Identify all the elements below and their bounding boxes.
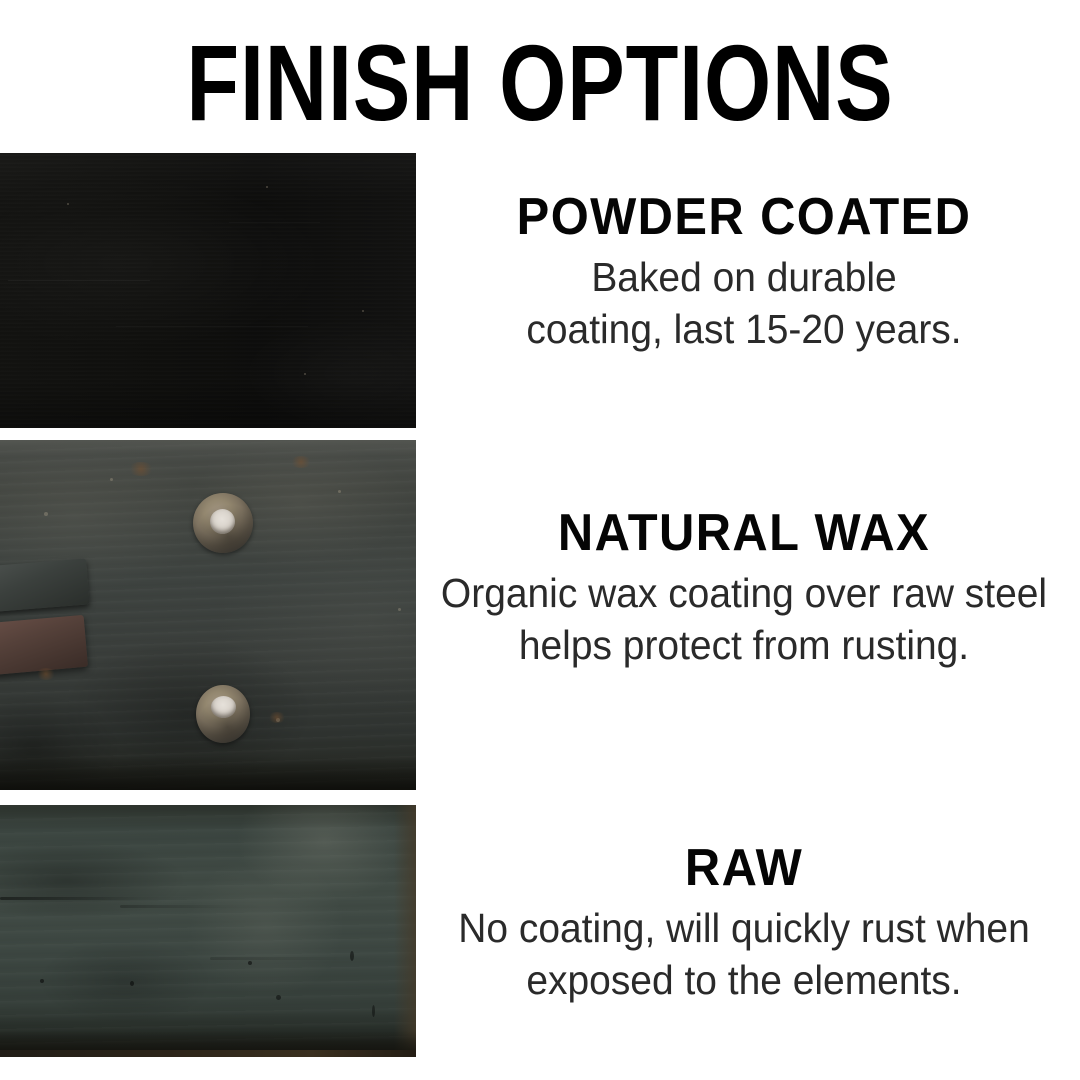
surface-scratch bbox=[116, 326, 307, 327]
hole-bore bbox=[210, 509, 235, 534]
rust-spot bbox=[128, 462, 154, 476]
plate-bottom-strip bbox=[0, 1050, 416, 1057]
surface-speck bbox=[266, 186, 268, 188]
description-line: helps protect from rusting. bbox=[440, 619, 1048, 671]
finish-options-infographic: FINISH OPTIONS POWDER COATED Baked on du… bbox=[0, 0, 1080, 1080]
surface-speck bbox=[350, 951, 354, 961]
countersunk-hole-lower bbox=[196, 685, 250, 743]
description-line: Baked on durable bbox=[440, 251, 1048, 303]
surface-speck bbox=[248, 961, 252, 965]
surface-streak bbox=[120, 905, 270, 908]
surface-speck bbox=[362, 310, 364, 312]
surface-speck bbox=[110, 478, 113, 481]
finish-heading-raw: RAW bbox=[443, 840, 1045, 896]
surface-speck bbox=[130, 981, 134, 986]
finish-description-powder-coated: Baked on durable coating, last 15-20 yea… bbox=[440, 251, 1048, 355]
description-line: Organic wax coating over raw steel bbox=[440, 567, 1048, 619]
surface-speck bbox=[276, 995, 281, 1000]
natural-wax-copy: NATURAL WAX Organic wax coating over raw… bbox=[424, 505, 1064, 671]
surface-speck bbox=[372, 1005, 375, 1017]
bracket-bar-upper bbox=[0, 558, 90, 613]
raw-copy: RAW No coating, will quickly rust when e… bbox=[424, 840, 1064, 1006]
countersunk-hole-upper bbox=[193, 493, 253, 553]
natural-wax-surface bbox=[0, 440, 416, 790]
plate-bottom-edge bbox=[0, 756, 416, 790]
finish-description-natural-wax: Organic wax coating over raw steel helps… bbox=[440, 567, 1048, 671]
raw-steel-swatch bbox=[0, 805, 416, 1057]
description-line: No coating, will quickly rust when bbox=[440, 902, 1048, 954]
finish-row-natural-wax: NATURAL WAX Organic wax coating over raw… bbox=[0, 440, 1080, 790]
surface-scratch bbox=[8, 280, 149, 281]
plate-top-edge bbox=[0, 440, 416, 456]
surface-speck bbox=[67, 203, 69, 205]
surface-scratch bbox=[229, 222, 321, 223]
rust-spot bbox=[290, 456, 312, 468]
surface-speck bbox=[304, 373, 306, 375]
surface-streak bbox=[0, 897, 200, 900]
raw-steel-surface bbox=[0, 805, 416, 1057]
powder-coated-copy: POWDER COATED Baked on durable coating, … bbox=[424, 189, 1064, 355]
steel-mottle-overlay bbox=[0, 805, 416, 1057]
rust-spot bbox=[268, 712, 286, 723]
surface-speck bbox=[40, 979, 44, 983]
description-line: exposed to the elements. bbox=[440, 954, 1048, 1006]
surface-speck bbox=[338, 490, 341, 493]
finish-description-raw: No coating, will quickly rust when expos… bbox=[440, 902, 1048, 1006]
finish-heading-natural-wax: NATURAL WAX bbox=[443, 505, 1045, 561]
rust-spot bbox=[36, 668, 56, 680]
surface-speck bbox=[44, 512, 48, 516]
description-line: coating, last 15-20 years. bbox=[440, 303, 1048, 355]
plate-right-edge bbox=[394, 805, 416, 1057]
powder-coated-swatch bbox=[0, 153, 416, 428]
finish-row-powder-coated: POWDER COATED Baked on durable coating, … bbox=[0, 153, 1080, 428]
surface-speck bbox=[398, 608, 401, 611]
natural-wax-swatch bbox=[0, 440, 416, 790]
surface-streak bbox=[210, 957, 400, 960]
hole-bore bbox=[211, 696, 236, 718]
powder-coated-surface bbox=[0, 153, 416, 428]
finish-row-raw: RAW No coating, will quickly rust when e… bbox=[0, 805, 1080, 1057]
page-title: FINISH OPTIONS bbox=[108, 28, 972, 138]
finish-heading-powder-coated: POWDER COATED bbox=[443, 189, 1045, 245]
